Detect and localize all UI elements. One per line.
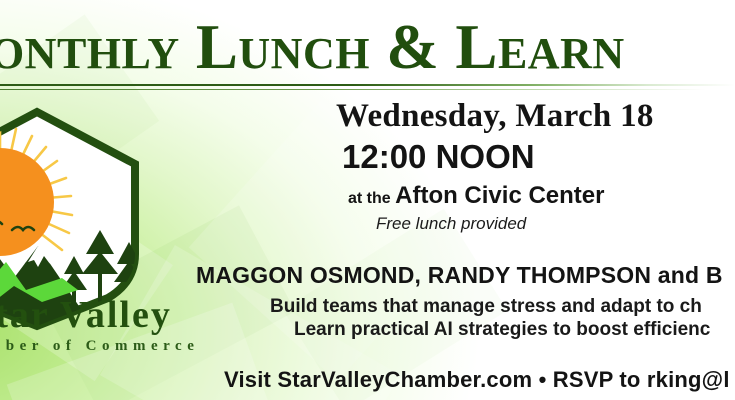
- title-divider-secondary: [0, 89, 735, 90]
- venue-prefix: at the: [348, 190, 391, 207]
- event-flyer: Monthly Lunch & Learn: [0, 0, 735, 400]
- session-topic-2: Learn practical AI strategies to boost e…: [294, 318, 735, 341]
- event-time: 12:00 NOON: [336, 140, 735, 173]
- chamber-subtitle: Chamber of Commerce: [0, 339, 222, 354]
- speaker-list: MAGGON OSMOND, RANDY THOMPSON and B: [196, 262, 735, 289]
- chamber-logo-text: Star Valley Chamber of Commerce: [0, 296, 222, 354]
- title-block: Monthly Lunch & Learn: [0, 0, 735, 96]
- lunch-note: Free lunch provided: [336, 214, 735, 234]
- event-date: Wednesday, March 18: [336, 100, 735, 133]
- event-venue: at the Afton Civic Center: [336, 182, 735, 210]
- event-details: Wednesday, March 18 12:00 NOON at the Af…: [336, 100, 735, 393]
- venue-name: Afton Civic Center: [395, 182, 604, 209]
- contact-footer: Visit StarValleyChamber.com • RSVP to rk…: [224, 367, 735, 393]
- title-divider-primary: [0, 84, 735, 86]
- chamber-name: Star Valley: [0, 296, 222, 334]
- page-title: Monthly Lunch & Learn: [0, 16, 625, 79]
- session-topic-1: Build teams that manage stress and adapt…: [270, 295, 735, 318]
